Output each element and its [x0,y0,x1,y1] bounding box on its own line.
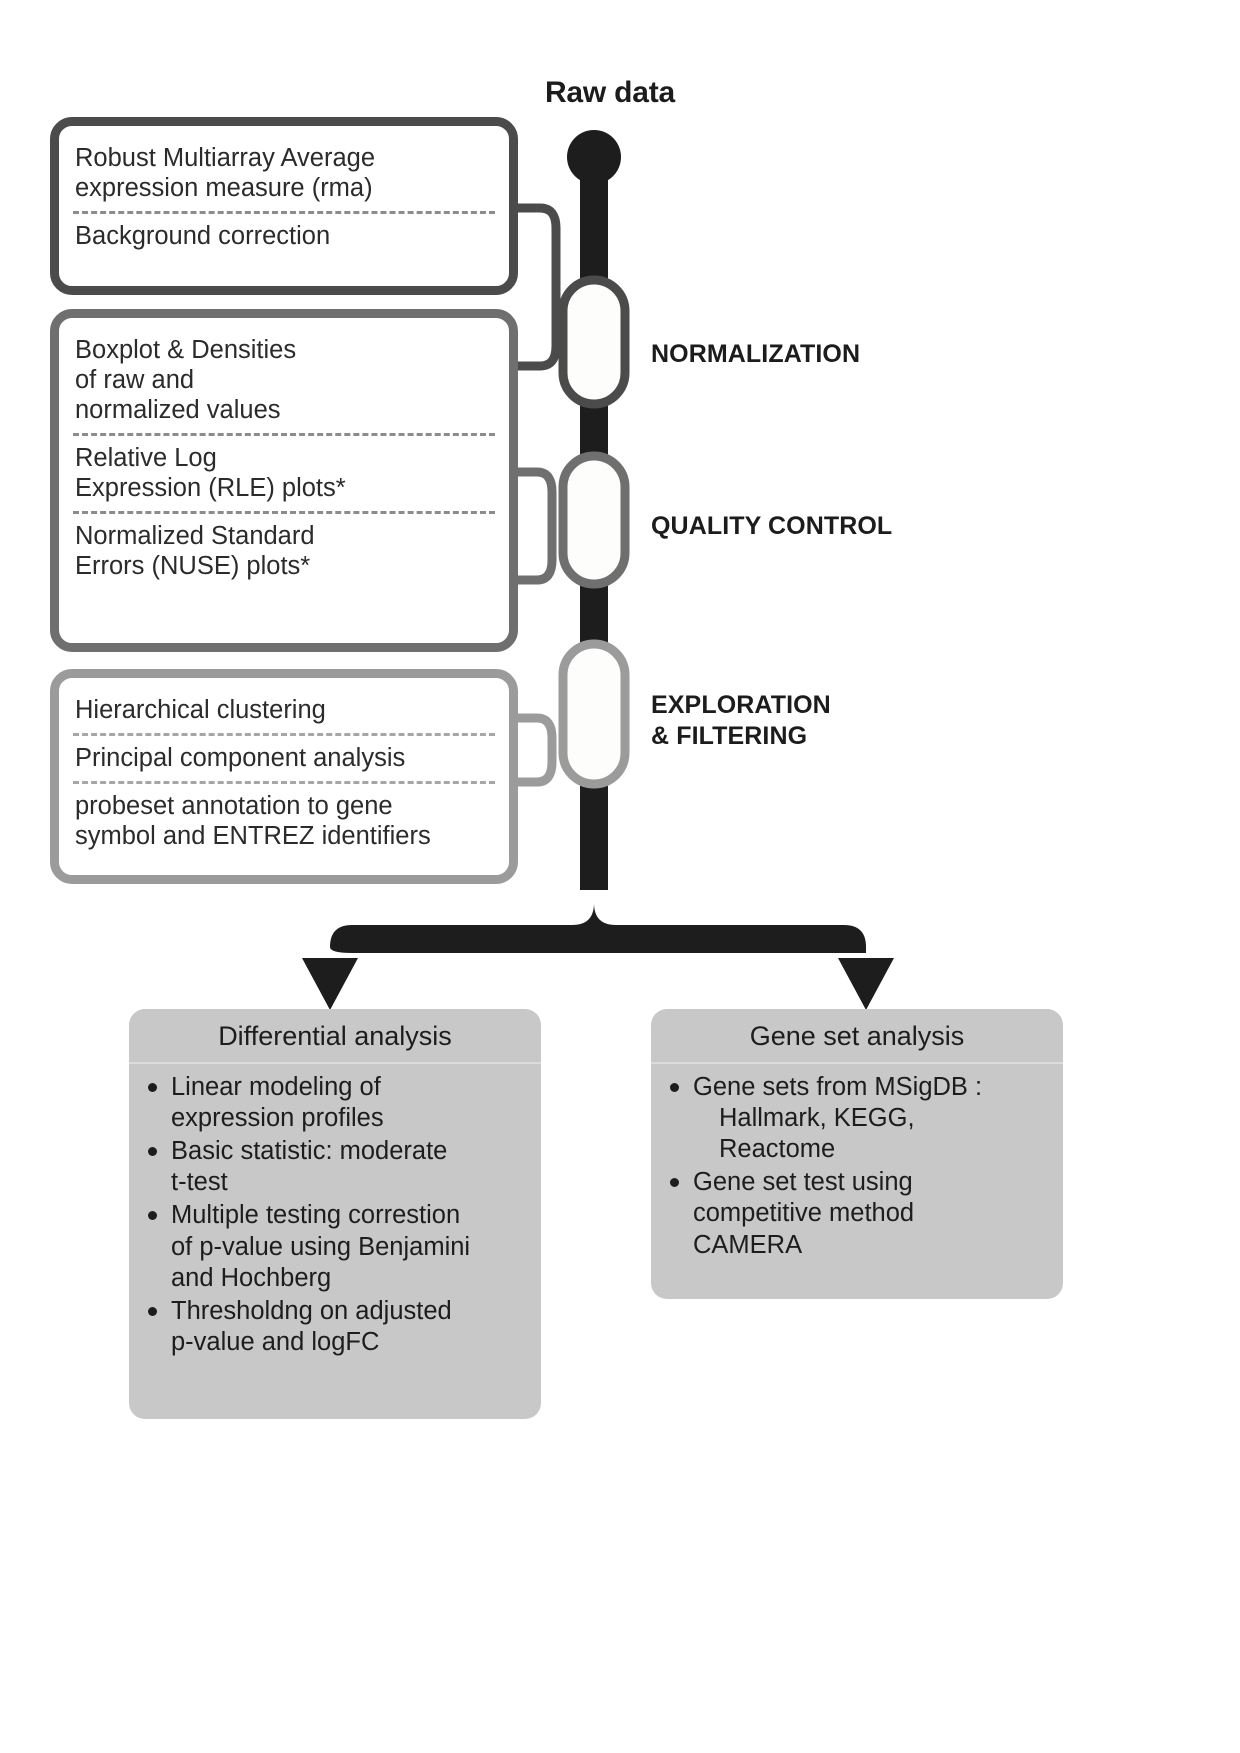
list-item-line: and Hochberg [171,1263,527,1294]
panel-item-line: probeset annotation to gene [75,791,493,821]
list-item: Thresholdng on adjusted p-value and logF… [145,1296,527,1358]
gene-set-analysis-card: Gene set analysis Gene sets from MSigDB … [651,1009,1063,1299]
list-item-line: Hallmark, KEGG, [693,1103,1049,1134]
panel-item: Background correction [73,211,495,259]
list-item: Linear modeling of expression profiles [145,1072,527,1134]
panel-item-line: Expression (RLE) plots* [75,473,493,503]
panel-item: Normalized Standard Errors (NUSE) plots* [73,511,495,589]
panel-connectors [518,208,556,782]
list-item: Basic statistic: moderate t-test [145,1136,527,1198]
list-item-line: Reactome [693,1134,1049,1165]
panel-item-line: expression measure (rma) [75,173,493,203]
bullet-icon [148,1147,157,1156]
panel-item: Boxplot & Densities of raw and normalize… [73,328,495,433]
panel-item-line: Robust Multiarray Average [75,143,493,173]
panel-item-line: Relative Log [75,443,493,473]
stage-label-line: EXPLORATION [651,690,831,721]
list-item: Multiple testing correstion of p-value u… [145,1200,527,1293]
exploration-filtering-panel: Hierarchical clustering Principal compon… [50,669,518,884]
bullet-icon [670,1083,679,1092]
connector-quality-control [518,472,552,580]
list-item-line: Linear modeling of [171,1072,527,1103]
panel-item-line: Normalized Standard [75,521,493,551]
diagram-canvas: Raw data Robust Multiarray Average expre… [0,0,1240,1753]
list-item-line: CAMERA [693,1230,1049,1261]
stage-label-line: & FILTERING [651,721,831,752]
stage-label-normalization: NORMALIZATION [651,339,860,370]
list-item: Gene sets from MSigDB : Hallmark, KEGG, … [667,1072,1049,1165]
list-item-line: Gene sets from MSigDB : [693,1072,1049,1103]
card-title: Differential analysis [129,1009,541,1064]
stage-label-line: NORMALIZATION [651,339,860,370]
capsule-normalization [563,280,625,404]
list-item-line: Multiple testing correstion [171,1200,527,1231]
panel-item-line: normalized values [75,395,493,425]
list-item-line: p-value and logFC [171,1327,527,1358]
connector-normalization [518,208,556,366]
panel-item-line: Boxplot & Densities [75,335,493,365]
bullet-icon [148,1083,157,1092]
branch-arrows [302,884,894,1010]
panel-item-line: Hierarchical clustering [75,695,493,725]
list-item-line: Gene set test using [693,1167,1049,1198]
list-item-line: Thresholdng on adjusted [171,1296,527,1327]
panel-item-line: of raw and [75,365,493,395]
panel-item: probeset annotation to gene symbol and E… [73,781,495,859]
list-item-line: of p-value using Benjamini [171,1232,527,1263]
list-item: Gene set test using competitive method C… [667,1167,1049,1260]
list-item-line: t-test [171,1167,527,1198]
list-item-line: Basic statistic: moderate [171,1136,527,1167]
panel-item-line: Principal component analysis [75,743,493,773]
list-item-line: expression profiles [171,1103,527,1134]
connector-exploration-filtering [518,718,552,782]
differential-analysis-card: Differential analysis Linear modeling of… [129,1009,541,1419]
card-body: Linear modeling of expression profiles B… [129,1064,541,1372]
bullet-icon [148,1211,157,1220]
panel-item-line: symbol and ENTREZ identifiers [75,821,493,851]
card-body: Gene sets from MSigDB : Hallmark, KEGG, … [651,1064,1063,1275]
capsule-quality-control [563,456,625,584]
quality-control-panel: Boxplot & Densities of raw and normalize… [50,309,518,652]
normalization-panel: Robust Multiarray Average expression mea… [50,117,518,295]
stage-label-line: QUALITY CONTROL [651,511,892,542]
panel-item: Robust Multiarray Average expression mea… [73,136,495,211]
capsule-exploration-filtering [563,644,625,784]
panel-item: Hierarchical clustering [73,688,495,733]
bullet-icon [670,1178,679,1187]
stage-capsules [563,280,625,784]
panel-item-line: Background correction [75,221,493,251]
stage-label-exploration-filtering: EXPLORATION & FILTERING [651,690,831,751]
bullet-icon [148,1307,157,1316]
list-item-line: competitive method [693,1198,1049,1229]
card-title: Gene set analysis [651,1009,1063,1064]
panel-item-line: Errors (NUSE) plots* [75,551,493,581]
stage-label-quality-control: QUALITY CONTROL [651,511,892,542]
panel-item: Principal component analysis [73,733,495,781]
panel-item: Relative Log Expression (RLE) plots* [73,433,495,511]
page-title: Raw data [470,76,750,110]
